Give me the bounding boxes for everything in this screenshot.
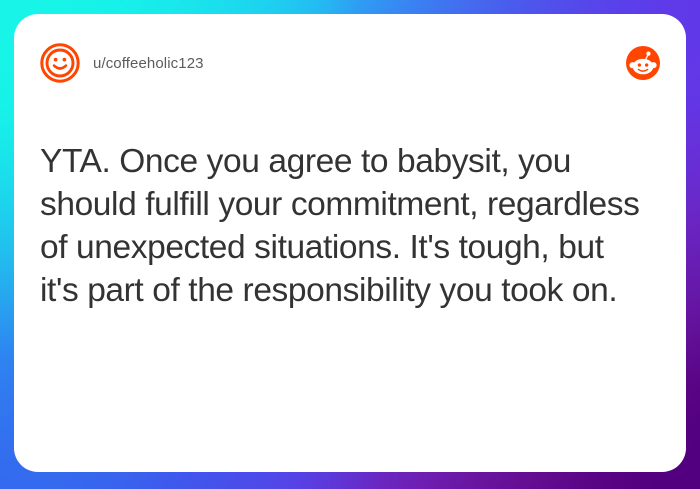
gradient-backdrop: u/coffeeholic123 YTA. Once you agree to … xyxy=(0,0,700,489)
author-username: u/coffeeholic123 xyxy=(93,55,204,72)
card-header: u/coffeeholic123 xyxy=(40,40,660,86)
reddit-comment-card: u/coffeeholic123 YTA. Once you agree to … xyxy=(14,14,686,472)
author-block[interactable]: u/coffeeholic123 xyxy=(40,43,204,83)
smiley-face-icon xyxy=(40,43,80,83)
reddit-snoo-icon[interactable] xyxy=(626,46,660,80)
post-body-text: YTA. Once you agree to babysit, you shou… xyxy=(40,140,650,312)
